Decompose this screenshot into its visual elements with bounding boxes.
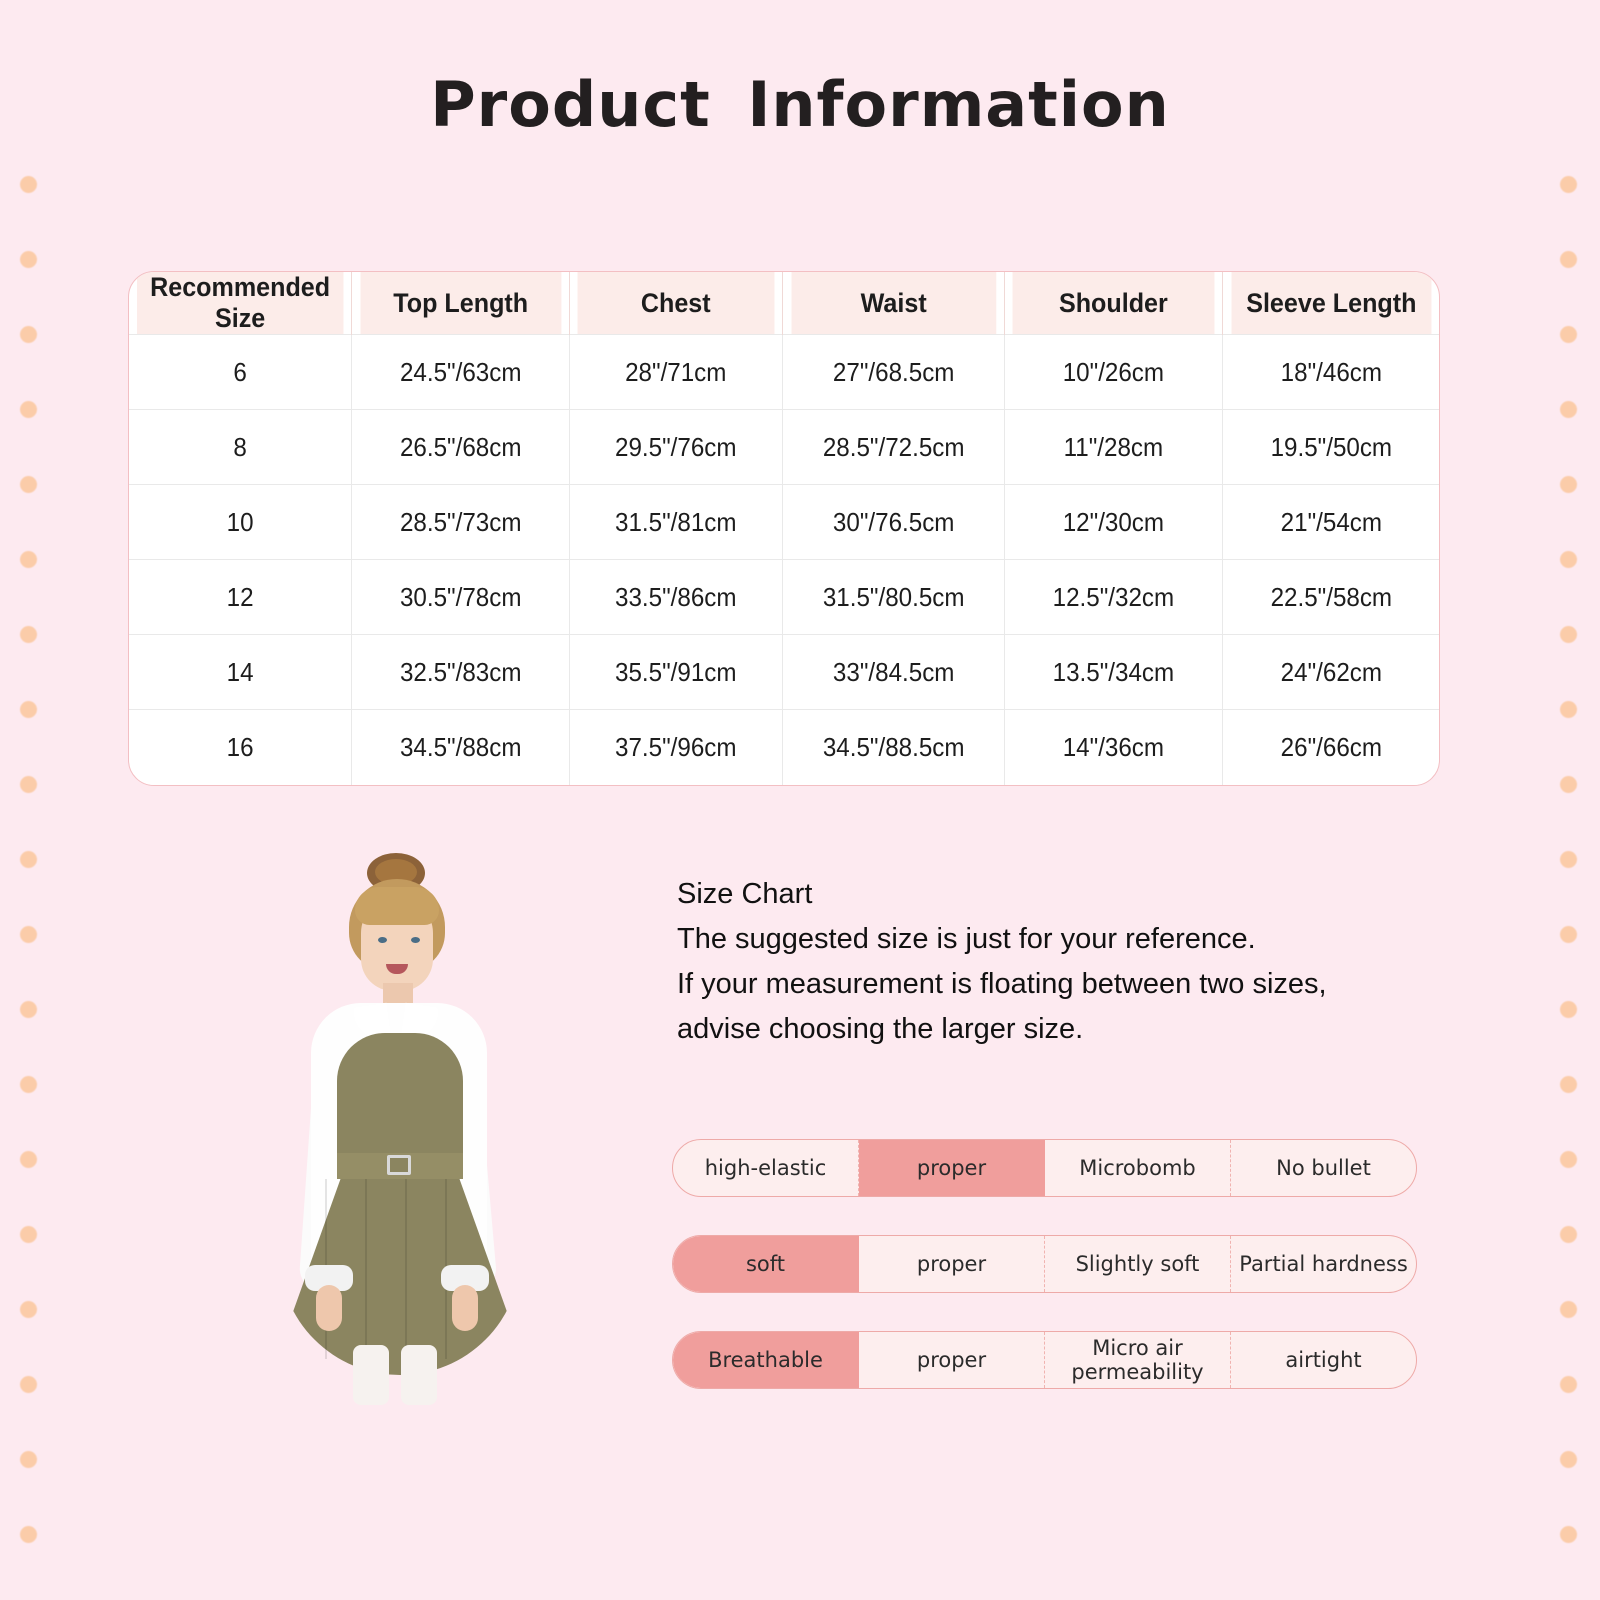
left-eye-shape [378,937,387,943]
segment-partial-hardness[interactable]: Partial hardness [1231,1236,1416,1292]
cell-chest: 29.5"/76cm [577,410,776,485]
decorative-dot [1560,1376,1577,1393]
cell-chest: 31.5"/81cm [577,485,776,560]
decorative-dot [20,1526,37,1543]
decorative-dot [1560,476,1577,493]
decorative-dot [20,851,37,868]
decorative-dot [1560,1151,1577,1168]
cell-sleeve-length: 26"/66cm [1230,710,1431,785]
segment-slightly-soft[interactable]: Slightly soft [1045,1236,1231,1292]
decorative-dot [20,1151,37,1168]
decorative-dot [1560,176,1577,193]
column-header-top-length: Top Length [359,272,561,335]
decorative-dot [20,1226,37,1243]
cell-shoulder: 14"/36cm [1012,710,1215,785]
size-chart-line-3: advise choosing the larger size. [677,1007,1437,1052]
legs-group [347,1345,443,1405]
size-chart-line-1: The suggested size is just for your refe… [677,917,1437,962]
table-row: 8 26.5"/68cm 29.5"/76cm 28.5"/72.5cm 11"… [129,410,1439,485]
decorative-dot [1560,1451,1577,1468]
segment-airtight[interactable]: airtight [1231,1332,1416,1388]
decorative-dot [1560,626,1577,643]
cell-sleeve-length: 24"/62cm [1230,635,1431,710]
decorative-dot [1560,251,1577,268]
cell-waist: 33"/84.5cm [790,635,996,710]
table-row: 12 30.5"/78cm 33.5"/86cm 31.5"/80.5cm 12… [129,560,1439,635]
column-header-waist: Waist [790,272,996,335]
cell-sleeve-length: 22.5"/58cm [1230,560,1431,635]
cell-chest: 35.5"/91cm [577,635,776,710]
cell-top-length: 26.5"/68cm [359,410,561,485]
cell-waist: 27"/68.5cm [790,335,996,410]
cell-chest: 33.5"/86cm [577,560,776,635]
cell-shoulder: 13.5"/34cm [1012,635,1215,710]
decorative-dot [1560,1076,1577,1093]
table-row: 14 32.5"/83cm 35.5"/91cm 33"/84.5cm 13.5… [129,635,1439,710]
segment-microbomb[interactable]: Microbomb [1045,1140,1231,1196]
page-title: Product Information [0,68,1600,141]
right-eye-shape [411,937,420,943]
segment-micro-air-permeability[interactable]: Micro air permeability [1045,1332,1231,1388]
model-photo [215,845,575,1405]
cell-top-length: 32.5"/83cm [359,635,561,710]
column-header-shoulder: Shoulder [1012,272,1215,335]
segment-high-elastic[interactable]: high-elastic [673,1140,859,1196]
segment-soft[interactable]: soft [673,1236,859,1292]
decorative-dot [20,926,37,943]
size-chart-heading: Size Chart [677,872,1437,917]
cell-waist: 30"/76.5cm [790,485,996,560]
cell-shoulder: 11"/28cm [1012,410,1215,485]
decorative-dot [1560,1301,1577,1318]
decorative-dot [20,701,37,718]
segment-proper[interactable]: proper [859,1140,1045,1196]
cell-chest: 28"/71cm [577,335,776,410]
table-row: 16 34.5"/88cm 37.5"/96cm 34.5"/88.5cm 14… [129,710,1439,785]
cell-size: 16 [137,710,344,785]
cell-size: 10 [137,485,344,560]
size-chart-line-2: If your measurement is floating between … [677,962,1437,1007]
cell-top-length: 34.5"/88cm [359,710,561,785]
decorative-dot [1560,1001,1577,1018]
cell-sleeve-length: 19.5"/50cm [1230,410,1431,485]
cell-top-length: 24.5"/63cm [359,335,561,410]
decorative-dot [20,1451,37,1468]
decorative-dot [20,1076,37,1093]
column-header-sleeve-length: Sleeve Length [1230,272,1431,335]
property-bar-softness: soft proper Slightly soft Partial hardne… [672,1235,1417,1293]
cell-size: 12 [137,560,344,635]
table-header-row: Recommended Size Top Length Chest Waist … [129,272,1439,335]
belt-buckle-shape [387,1155,411,1175]
model-figure [215,845,575,1405]
decorative-dot [1560,926,1577,943]
cell-size: 8 [137,410,344,485]
skirt-pleat [405,1179,407,1359]
cell-waist: 31.5"/80.5cm [790,560,996,635]
decorative-dot [1560,776,1577,793]
decorative-dot [1560,851,1577,868]
cell-sleeve-length: 18"/46cm [1230,335,1431,410]
table-row: 10 28.5"/73cm 31.5"/81cm 30"/76.5cm 12"/… [129,485,1439,560]
decorative-dots-right [1540,0,1600,1600]
size-table-container: Recommended Size Top Length Chest Waist … [128,271,1440,786]
cell-top-length: 28.5"/73cm [359,485,561,560]
skirt-pleat [365,1179,367,1359]
right-leg-shape [401,1345,437,1405]
decorative-dot [20,476,37,493]
cell-waist: 34.5"/88.5cm [790,710,996,785]
segment-proper[interactable]: proper [859,1236,1045,1292]
decorative-dot [20,1376,37,1393]
decorative-dot [20,326,37,343]
decorative-dot [20,176,37,193]
decorative-dot [20,1301,37,1318]
segment-no-bullet[interactable]: No bullet [1231,1140,1416,1196]
cell-top-length: 30.5"/78cm [359,560,561,635]
decorative-dot [20,551,37,568]
size-table: Recommended Size Top Length Chest Waist … [129,272,1439,785]
size-chart-notes: Size Chart The suggested size is just fo… [677,872,1437,1052]
decorative-dot [20,626,37,643]
table-row: 6 24.5"/63cm 28"/71cm 27"/68.5cm 10"/26c… [129,335,1439,410]
cell-size: 14 [137,635,344,710]
cell-shoulder: 12.5"/32cm [1012,560,1215,635]
decorative-dot [1560,401,1577,418]
decorative-dot [1560,551,1577,568]
decorative-dot [20,401,37,418]
left-leg-shape [353,1345,389,1405]
hair-fringe-shape [355,887,439,925]
column-header-recommended-size: Recommended Size [137,272,344,335]
cell-waist: 28.5"/72.5cm [790,410,996,485]
decorative-dot [20,776,37,793]
decorative-dot [20,251,37,268]
decorative-dot [1560,326,1577,343]
property-bars: high-elastic proper Microbomb No bullet … [672,1139,1417,1427]
decorative-dot [20,1001,37,1018]
cell-chest: 37.5"/96cm [577,710,776,785]
segment-breathable[interactable]: Breathable [673,1332,859,1388]
pinafore-bodice-shape [337,1033,463,1163]
decorative-dot [1560,1226,1577,1243]
decorative-dots-left [0,0,60,1600]
right-hand-shape [452,1285,478,1331]
column-header-chest: Chest [577,272,776,335]
property-bar-elasticity: high-elastic proper Microbomb No bullet [672,1139,1417,1197]
cell-sleeve-length: 21"/54cm [1230,485,1431,560]
decorative-dot [1560,1526,1577,1543]
decorative-dot [1560,701,1577,718]
property-bar-breathability: Breathable proper Micro air permeability… [672,1331,1417,1389]
left-hand-shape [316,1285,342,1331]
cell-shoulder: 10"/26cm [1012,335,1215,410]
cell-shoulder: 12"/30cm [1012,485,1215,560]
cell-size: 6 [137,335,344,410]
segment-proper[interactable]: proper [859,1332,1045,1388]
